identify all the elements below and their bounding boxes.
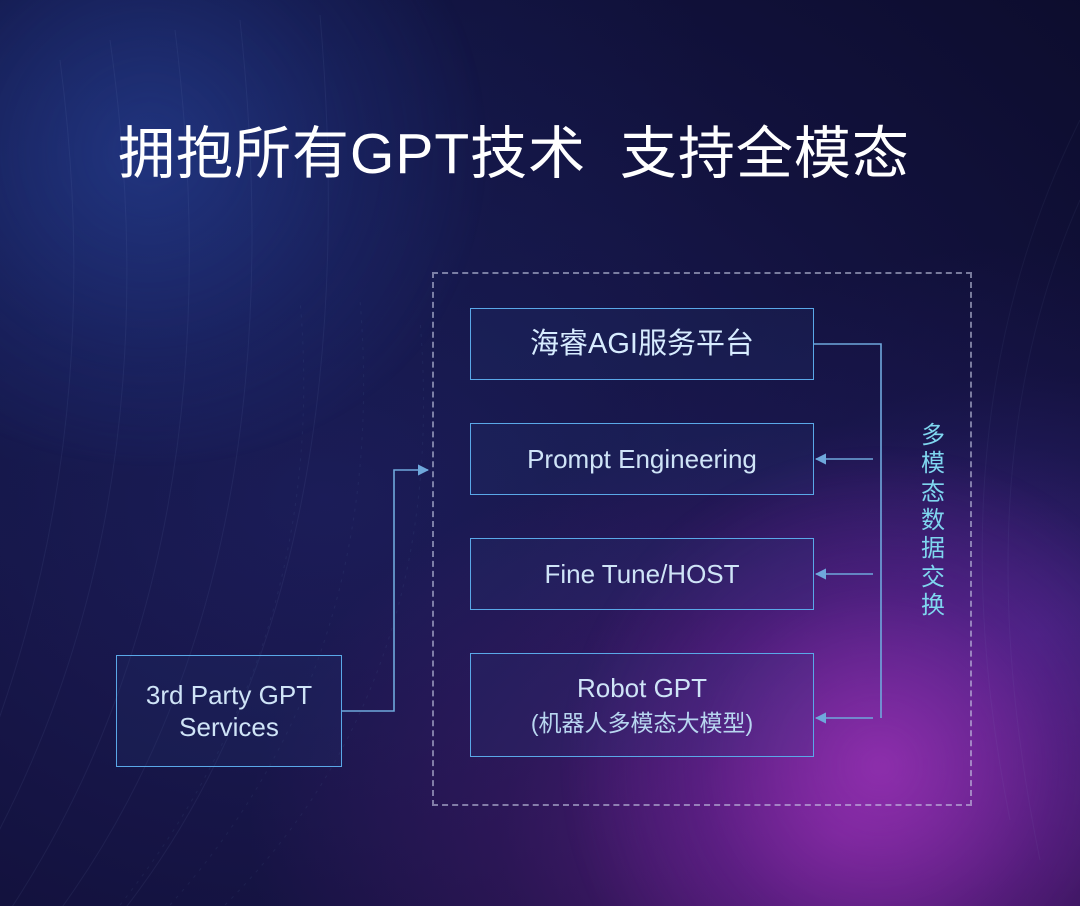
page-title: 拥抱所有GPT技术 支持全模态 [118,108,910,190]
node-fine-tune-host[interactable]: Fine Tune/HOST [470,538,814,610]
node-prompt-engineering[interactable]: Prompt Engineering [470,423,814,495]
node-3rd-party-gpt[interactable]: 3rd Party GPT Services [116,655,342,767]
slide-canvas: 拥抱所有GPT技术 支持全模态 海睿AGI服务平台 Prompt Enginee… [0,0,1080,906]
node-robot-gpt-label: Robot GPT [577,672,707,705]
background-glow-blue [0,0,500,460]
node-3rd-party-gpt-sublabel: Services [179,711,279,744]
node-fine-tune-host-label: Fine Tune/HOST [544,558,739,591]
side-label-multimodal-exchange: 多 模 态 数 据 交 换 [916,422,950,620]
node-agi-platform[interactable]: 海睿AGI服务平台 [470,308,814,380]
node-prompt-engineering-label: Prompt Engineering [527,443,757,476]
node-robot-gpt-sublabel: (机器人多模态大模型) [531,709,753,738]
node-agi-platform-label: 海睿AGI服务平台 [530,326,754,362]
node-3rd-party-gpt-label: 3rd Party GPT [146,679,312,712]
node-robot-gpt[interactable]: Robot GPT (机器人多模态大模型) [470,653,814,757]
